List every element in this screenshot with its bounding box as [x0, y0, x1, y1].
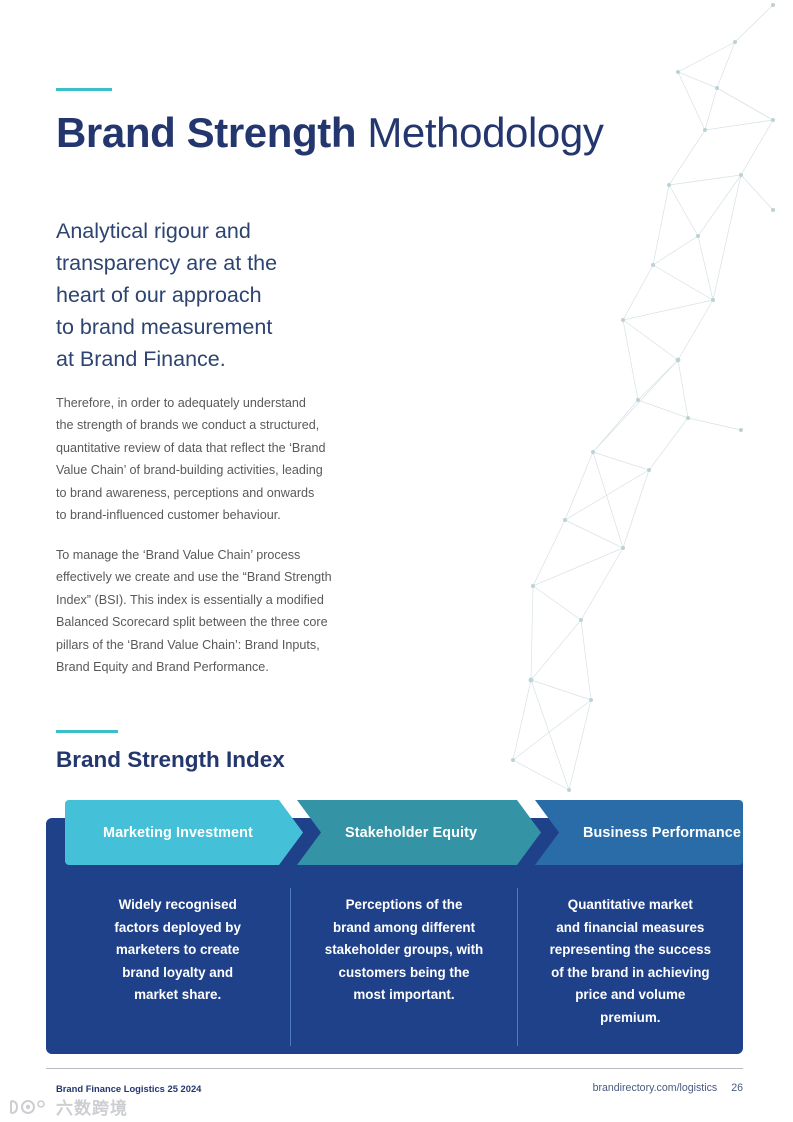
body-paragraph-2: To manage the ‘Brand Value Chain’ proces… — [56, 544, 378, 678]
bsi-chevron-row: Marketing Investment Stakeholder Equity … — [65, 800, 743, 865]
watermark: 六数跨境 — [8, 1094, 128, 1119]
watermark-text: 六数跨境 — [56, 1094, 128, 1119]
bsi-description-line: Quantitative market — [532, 894, 729, 917]
bsi-description-line: Perceptions of the — [305, 894, 502, 917]
page-title-light: Methodology — [356, 109, 603, 156]
bsi-chevron-stakeholder-equity: Stakeholder Equity — [297, 800, 541, 865]
lead-line: transparency are at the — [56, 247, 386, 279]
document-page: Brand Strength Methodology Analytical ri… — [0, 0, 793, 1122]
section-header: Brand Strength Index — [56, 730, 285, 773]
bsi-description-line: of the brand in achieving — [532, 962, 729, 985]
footer-report-title: Brand Finance Logistics 25 2024 — [56, 1083, 201, 1094]
body-line: quantitative review of data that reflect… — [56, 437, 378, 459]
lead-line: Analytical rigour and — [56, 215, 386, 247]
body-line: effectively we create and use the “Brand… — [56, 566, 378, 588]
bsi-description-row: Widely recognised factors deployed by ma… — [65, 888, 743, 1046]
bsi-description-line: price and volume — [532, 984, 729, 1007]
lead-line: to brand measurement — [56, 311, 386, 343]
body-paragraph-1: Therefore, in order to adequately unders… — [56, 392, 378, 526]
body-line: Brand Equity and Brand Performance. — [56, 656, 378, 678]
brand-strength-index-diagram: Marketing Investment Stakeholder Equity … — [46, 800, 743, 1054]
page-header: Brand Strength Methodology — [56, 88, 603, 156]
bsi-description-line: most important. — [305, 984, 502, 1007]
body-line: pillars of the ‘Brand Value Chain’: Bran… — [56, 634, 378, 656]
bsi-description-line: brand among different — [305, 917, 502, 940]
page-title-strong: Brand Strength — [56, 109, 356, 156]
body-line: Balanced Scorecard split between the thr… — [56, 611, 378, 633]
bsi-chevron-business-performance: Business Performance — [535, 800, 743, 865]
footer-right-group: brandirectory.com/logistics 26 — [593, 1082, 743, 1094]
section-title: Brand Strength Index — [56, 747, 285, 773]
bsi-description-line: factors deployed by — [79, 917, 276, 940]
page-title: Brand Strength Methodology — [56, 109, 603, 156]
body-line: To manage the ‘Brand Value Chain’ proces… — [56, 544, 378, 566]
bsi-description-line: customers being the — [305, 962, 502, 985]
footer-divider — [46, 1068, 743, 1069]
bsi-description-line: brand loyalty and — [79, 962, 276, 985]
body-line: the strength of brands we conduct a stru… — [56, 414, 378, 436]
camera-logo-icon — [8, 1097, 50, 1117]
lead-paragraph: Analytical rigour and transparency are a… — [56, 215, 386, 375]
bsi-description-line: premium. — [532, 1007, 729, 1030]
bsi-description-line: market share. — [79, 984, 276, 1007]
body-line: to brand-influenced customer behaviour. — [56, 504, 378, 526]
lead-line: at Brand Finance. — [56, 343, 386, 375]
bsi-chevron-label: Stakeholder Equity — [297, 825, 477, 841]
bsi-chevron-label: Business Performance — [535, 825, 741, 841]
bsi-description-line: and financial measures — [532, 917, 729, 940]
body-line: Value Chain’ of brand-building activitie… — [56, 459, 378, 481]
bsi-description-line: marketers to create — [79, 939, 276, 962]
bsi-chevron-marketing-investment: Marketing Investment — [65, 800, 303, 865]
footer-url[interactable]: brandirectory.com/logistics — [593, 1082, 718, 1094]
title-accent-rule — [56, 88, 112, 91]
bsi-description-stakeholder-equity: Perceptions of the brand among different… — [290, 888, 516, 1046]
footer-page-number: 26 — [731, 1082, 743, 1094]
page-footer: Brand Finance Logistics 25 2024 brandire… — [56, 1082, 743, 1094]
bsi-description-line: representing the success — [532, 939, 729, 962]
body-line: Therefore, in order to adequately unders… — [56, 392, 378, 414]
bsi-description-line: stakeholder groups, with — [305, 939, 502, 962]
bsi-description-line: Widely recognised — [79, 894, 276, 917]
bsi-description-marketing-investment: Widely recognised factors deployed by ma… — [65, 888, 290, 1046]
lead-line: heart of our approach — [56, 279, 386, 311]
bsi-chevron-label: Marketing Investment — [65, 825, 253, 841]
body-line: Index” (BSI). This index is essentially … — [56, 589, 378, 611]
section-accent-rule — [56, 730, 118, 733]
bsi-description-business-performance: Quantitative market and financial measur… — [517, 888, 743, 1046]
body-line: to brand awareness, perceptions and onwa… — [56, 482, 378, 504]
